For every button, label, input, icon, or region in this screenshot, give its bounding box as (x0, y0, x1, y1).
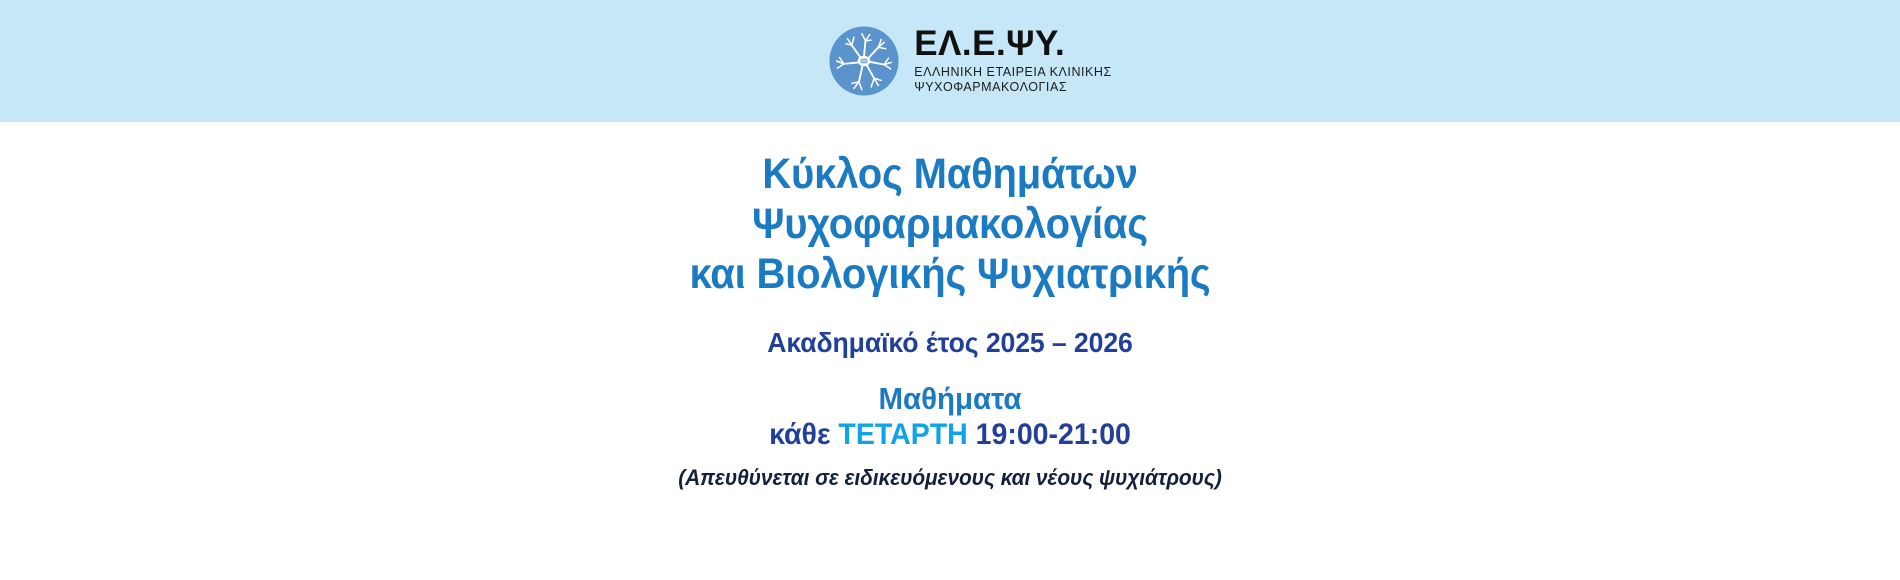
audience-note: (Απευθύνεται σε ειδικευόμενους και νέους… (48, 465, 1853, 491)
course-title-line-3: και Βιολογικής Ψυχιατρικής (67, 250, 1834, 300)
organization-logo-text: ΕΛ.Ε.ΨΥ. ΕΛΛΗΝΙΚΗ ΕΤΑΙΡΕΙΑ ΚΛΙΝΙΚΗΣ ΨΥΧΟ… (914, 26, 1112, 95)
academic-year: Ακαδημαϊκό έτος 2025 – 2026 (48, 327, 1853, 359)
schedule-day: ΤΕΤΑΡΤΗ (838, 418, 967, 451)
course-title-line-1: Κύκλος Μαθημάτων (67, 150, 1834, 200)
organization-acronym: ΕΛ.Ε.ΨΥ. (914, 26, 1112, 62)
schedule-line: κάθε ΤΕΤΑΡΤΗ 19:00-21:00 (48, 418, 1853, 451)
organization-logo-lockup[interactable]: ΕΛ.Ε.ΨΥ. ΕΛΛΗΝΙΚΗ ΕΤΑΙΡΕΙΑ ΚΛΙΝΙΚΗΣ ΨΥΧΟ… (828, 25, 1112, 97)
header-band: ΕΛ.Ε.ΨΥ. ΕΛΛΗΝΙΚΗ ΕΤΑΙΡΕΙΑ ΚΛΙΝΙΚΗΣ ΨΥΧΟ… (0, 0, 1900, 122)
neuron-in-circle-icon (828, 25, 900, 97)
organization-name-line-2: ΨΥΧΟΦΑΡΜΑΚΟΛΟΓΙΑΣ (914, 80, 1112, 95)
organization-name-line-1: ΕΛΛΗΝΙΚΗ ΕΤΑΙΡΕΙΑ ΚΛΙΝΙΚΗΣ (914, 65, 1112, 80)
schedule-time: 19:00-21:00 (976, 418, 1131, 451)
course-title: Κύκλος Μαθημάτων Ψυχοφαρμακολογίας και Β… (67, 150, 1834, 300)
course-title-line-2: Ψυχοφαρμακολογίας (67, 200, 1834, 250)
announcement-content: Κύκλος Μαθημάτων Ψυχοφαρμακολογίας και Β… (0, 122, 1900, 491)
lessons-heading: Μαθήματα (48, 383, 1853, 416)
schedule-prefix: κάθε (769, 418, 830, 451)
